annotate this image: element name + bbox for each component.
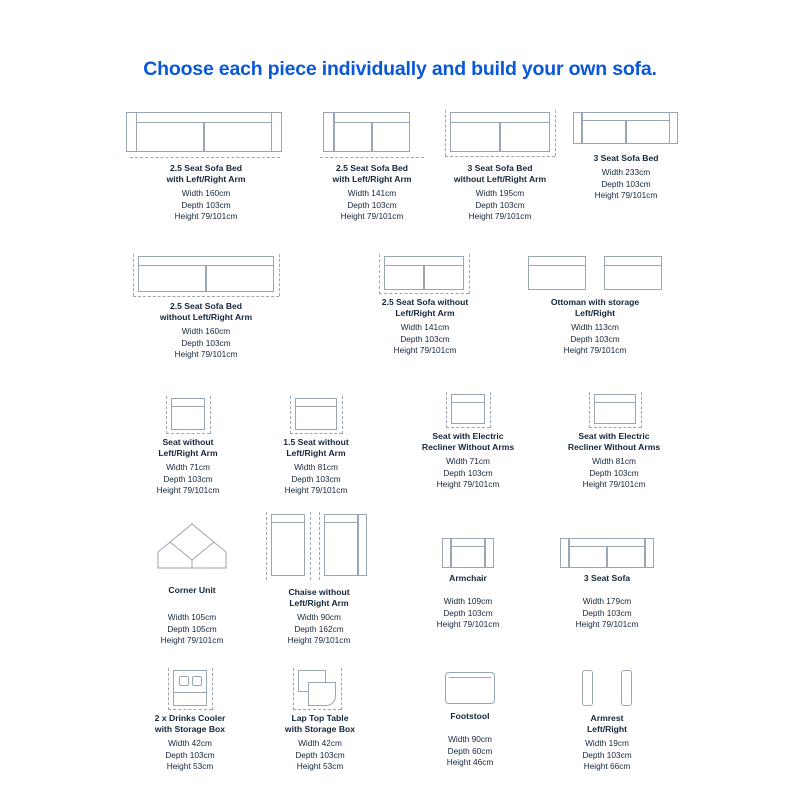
dashed-edge-left bbox=[446, 392, 447, 428]
item-label: Seat with Electric Recliner Without Arms bbox=[544, 431, 684, 453]
arm-left bbox=[126, 112, 137, 152]
drinks-cooler-storage-art bbox=[138, 664, 242, 710]
armrest-left bbox=[582, 670, 593, 706]
armchair-art bbox=[420, 530, 516, 570]
chaise-right-arm bbox=[358, 514, 367, 576]
backrest bbox=[569, 538, 645, 547]
item-seat-without-arm[interactable]: Seat without Left/Right Arm Width 71cm D… bbox=[140, 392, 236, 497]
item-label: Chaise without Left/Right Arm bbox=[262, 587, 376, 609]
dashed-base bbox=[166, 433, 210, 434]
dashed-edge-left bbox=[589, 392, 590, 428]
dashed-base bbox=[290, 433, 342, 434]
armrest-art bbox=[556, 664, 658, 710]
arm-left bbox=[323, 112, 334, 152]
item-dims: Width 160cm Depth 103cm Height 79/101cm bbox=[126, 188, 286, 223]
dashed-edge-left bbox=[379, 254, 380, 294]
dashed-base bbox=[130, 157, 280, 158]
dashed-base bbox=[293, 709, 341, 710]
item-label: 3 Seat Sofa bbox=[552, 573, 662, 584]
dashed-edge-left bbox=[266, 512, 267, 580]
sofa-bed-25-with-arm-art bbox=[320, 104, 424, 160]
item-armrest[interactable]: Armrest Left/Right Width 19cm Depth 103c… bbox=[556, 664, 658, 773]
dashed-base bbox=[168, 709, 212, 710]
item-dims: Width 105cm Depth 105cm Height 79/101cm bbox=[142, 612, 242, 647]
item-sofa-bed-25-with-arms[interactable]: 2.5 Seat Sofa Bed with Left/Right Arm Wi… bbox=[126, 104, 286, 223]
dashed-edge-left bbox=[290, 396, 291, 434]
item-label: Seat with Electric Recliner Without Arms bbox=[402, 431, 534, 453]
arm-right bbox=[645, 538, 654, 568]
item-label: 2 x Drinks Cooler with Storage Box bbox=[138, 713, 242, 735]
item-corner-unit[interactable]: Corner Unit Width 105cm Depth 105cm Heig… bbox=[142, 520, 242, 647]
dashed-edge-left bbox=[166, 396, 167, 434]
item-dims: Width 42cm Depth 103cm Height 53cm bbox=[268, 738, 372, 773]
item-dims: Width 179cm Depth 103cm Height 79/101cm bbox=[552, 596, 662, 631]
item-ottoman-storage[interactable]: Ottoman with storage Left/Right Width 11… bbox=[522, 248, 668, 357]
item-chaise-without-arm[interactable]: Chaise without Left/Right Arm Width 90cm… bbox=[262, 508, 376, 647]
dashed-edge-right bbox=[212, 668, 213, 710]
item-label: Armchair bbox=[420, 573, 516, 584]
dashed-edge-left bbox=[168, 668, 169, 710]
dashed-base bbox=[133, 296, 279, 297]
item-dims: Width 81cm Depth 103cm Height 79/101cm bbox=[266, 462, 366, 497]
item-dims-text: Width 90cm Depth 60cm Height 46cm bbox=[447, 734, 494, 767]
item-dims: Width 160cm Depth 103cm Height 79/101cm bbox=[122, 326, 290, 361]
chaise-without-arm-art bbox=[262, 508, 376, 584]
item-footstool[interactable]: Footstool Width 90cm Depth 60cm Height 4… bbox=[422, 666, 518, 769]
cooler-left bbox=[179, 676, 189, 686]
arm-right bbox=[485, 538, 494, 568]
arm-left bbox=[573, 112, 582, 144]
ottoman-left-back bbox=[528, 256, 586, 266]
item-dims-text: Width 109cm Depth 103cm Height 79/101cm bbox=[437, 596, 500, 629]
item-sofa-3-seat[interactable]: 3 Seat Sofa Width 179cm Depth 103cm Heig… bbox=[552, 530, 662, 631]
item-label: 2.5 Seat Sofa Bed with Left/Right Arm bbox=[320, 163, 424, 185]
item-label: Armrest Left/Right bbox=[556, 713, 658, 735]
backrest bbox=[171, 398, 205, 407]
seat-electric-recliner-71-art bbox=[402, 386, 534, 428]
dashed-edge-right bbox=[279, 254, 280, 296]
item-dims: Width 233cm Depth 103cm Height 79/101cm bbox=[563, 167, 689, 202]
arm-left bbox=[442, 538, 451, 568]
backrest bbox=[138, 256, 274, 266]
armrest-right bbox=[621, 670, 632, 706]
item-seat-electric-recliner-81[interactable]: Seat with Electric Recliner Without Arms… bbox=[544, 386, 684, 491]
dashed-edge-left bbox=[445, 110, 446, 156]
dashed-edge-right bbox=[469, 254, 470, 294]
item-dims: Width 90cm Depth 60cm Height 46cm bbox=[422, 734, 518, 769]
item-seat-electric-recliner-71[interactable]: Seat with Electric Recliner Without Arms… bbox=[402, 386, 534, 491]
backrest bbox=[451, 538, 485, 547]
dashed-edge-right bbox=[341, 668, 342, 710]
item-drinks-cooler-storage[interactable]: 2 x Drinks Cooler with Storage Box Width… bbox=[138, 664, 242, 773]
dashed-base bbox=[379, 293, 469, 294]
item-label: 2.5 Seat Sofa without Left/Right Arm bbox=[363, 297, 487, 319]
item-seat-15-without-arm[interactable]: 1.5 Seat without Left/Right Arm Width 81… bbox=[266, 392, 366, 497]
item-dims: Width 113cm Depth 103cm Height 79/101cm bbox=[522, 322, 668, 357]
chaise-left bbox=[271, 514, 305, 576]
item-dims: Width 19cm Depth 103cm Height 66cm bbox=[556, 738, 658, 773]
dashed-edge-right bbox=[342, 396, 343, 434]
chaise-right bbox=[324, 514, 358, 576]
backrest bbox=[594, 394, 636, 403]
dashed-base bbox=[589, 427, 641, 428]
item-dims: Width 81cm Depth 103cm Height 79/101cm bbox=[544, 456, 684, 491]
sofa-bed-3-art bbox=[563, 104, 689, 150]
dashed-edge-left-inner bbox=[310, 512, 311, 580]
sofa-bed-25-with-arms-art bbox=[126, 104, 286, 160]
dashed-base bbox=[320, 157, 424, 158]
item-label: 1.5 Seat without Left/Right Arm bbox=[266, 437, 366, 459]
divider-line bbox=[173, 692, 207, 693]
item-dims: Width 90cm Depth 162cm Height 79/101cm bbox=[262, 612, 376, 647]
item-label: 3 Seat Sofa Bed without Left/Right Arm bbox=[437, 163, 563, 185]
dashed-edge-left bbox=[133, 254, 134, 296]
item-laptop-table-storage[interactable]: Lap Top Table with Storage Box Width 42c… bbox=[268, 664, 372, 773]
dashed-base bbox=[445, 156, 555, 157]
item-sofa-25-without-arm[interactable]: 2.5 Seat Sofa without Left/Right Arm Wid… bbox=[363, 248, 487, 357]
backrest bbox=[451, 394, 485, 403]
backrest bbox=[334, 112, 410, 123]
item-dims: Width 42cm Depth 103cm Height 53cm bbox=[138, 738, 242, 773]
dashed-edge-right bbox=[210, 396, 211, 434]
sofa-3-seat-art bbox=[552, 530, 662, 570]
item-dims-text: Width 105cm Depth 105cm Height 79/101cm bbox=[161, 612, 224, 645]
page-title: Choose each piece individually and build… bbox=[0, 58, 800, 81]
corner-unit-icon bbox=[142, 520, 242, 582]
item-label: 3 Seat Sofa Bed bbox=[563, 153, 689, 164]
item-dims: Width 109cm Depth 103cm Height 79/101cm bbox=[420, 596, 516, 631]
chaise-left-back bbox=[271, 514, 305, 523]
item-dims: Width 195cm Depth 103cm Height 79/101cm bbox=[437, 188, 563, 223]
ottoman-storage-art bbox=[522, 248, 668, 294]
corner-unit-art bbox=[142, 520, 242, 582]
footstool-top-line bbox=[449, 677, 491, 678]
item-armchair[interactable]: Armchair Width 109cm Depth 103cm Height … bbox=[420, 530, 516, 631]
cooler-right bbox=[192, 676, 202, 686]
dashed-edge-left bbox=[293, 668, 294, 710]
sofa-25-without-arm-art bbox=[363, 248, 487, 294]
chaise-right-back bbox=[324, 514, 358, 523]
item-sofa-bed-3-without-arms[interactable]: 3 Seat Sofa Bed without Left/Right Arm W… bbox=[437, 104, 563, 223]
arm-left bbox=[560, 538, 569, 568]
item-label: 2.5 Seat Sofa Bed with Left/Right Arm bbox=[126, 163, 286, 185]
dashed-base bbox=[446, 427, 490, 428]
laptop-table bbox=[308, 682, 336, 706]
item-dims: Width 71cm Depth 103cm Height 79/101cm bbox=[402, 456, 534, 491]
dashed-edge-right bbox=[319, 512, 320, 580]
item-label: Corner Unit bbox=[142, 585, 242, 596]
item-label: Ottoman with storage Left/Right bbox=[522, 297, 668, 319]
item-sofa-bed-25-with-arm[interactable]: 2.5 Seat Sofa Bed with Left/Right Arm Wi… bbox=[320, 104, 424, 223]
storage-box bbox=[173, 670, 207, 706]
footstool-art bbox=[422, 666, 518, 708]
backrest bbox=[136, 112, 272, 123]
sofa-bed-3-without-arms-art bbox=[437, 104, 563, 160]
item-dims: Width 141cm Depth 103cm Height 79/101cm bbox=[320, 188, 424, 223]
dashed-edge-right bbox=[641, 392, 642, 428]
item-label: Seat without Left/Right Arm bbox=[140, 437, 236, 459]
arm-right bbox=[271, 112, 282, 152]
dashed-edge-right bbox=[490, 392, 491, 428]
dashed-edge-right bbox=[555, 110, 556, 156]
backrest bbox=[295, 398, 337, 407]
seat-without-arm-art bbox=[140, 392, 236, 434]
item-dims-text: Width 179cm Depth 103cm Height 79/101cm bbox=[576, 596, 639, 629]
item-sofa-bed-3[interactable]: 3 Seat Sofa Bed Width 233cm Depth 103cm … bbox=[563, 104, 689, 202]
item-label: Lap Top Table with Storage Box bbox=[268, 713, 372, 735]
backrest bbox=[450, 112, 550, 123]
diagram-page: Choose each piece individually and build… bbox=[0, 0, 800, 800]
laptop-table-storage-art bbox=[268, 664, 372, 710]
item-dims: Width 141cm Depth 103cm Height 79/101cm bbox=[363, 322, 487, 357]
item-label: Footstool bbox=[422, 711, 518, 722]
seat-15-without-arm-art bbox=[266, 392, 366, 434]
backrest bbox=[582, 112, 670, 121]
backrest bbox=[384, 256, 464, 266]
item-label: 2.5 Seat Sofa Bed without Left/Right Arm bbox=[122, 301, 290, 323]
item-sofa-bed-25-without-arms[interactable]: 2.5 Seat Sofa Bed without Left/Right Arm… bbox=[122, 248, 290, 361]
seat-electric-recliner-81-art bbox=[544, 386, 684, 428]
item-dims: Width 71cm Depth 103cm Height 79/101cm bbox=[140, 462, 236, 497]
sofa-bed-25-without-arms-art bbox=[122, 248, 290, 298]
ottoman-right-back bbox=[604, 256, 662, 266]
arm-right bbox=[669, 112, 678, 144]
